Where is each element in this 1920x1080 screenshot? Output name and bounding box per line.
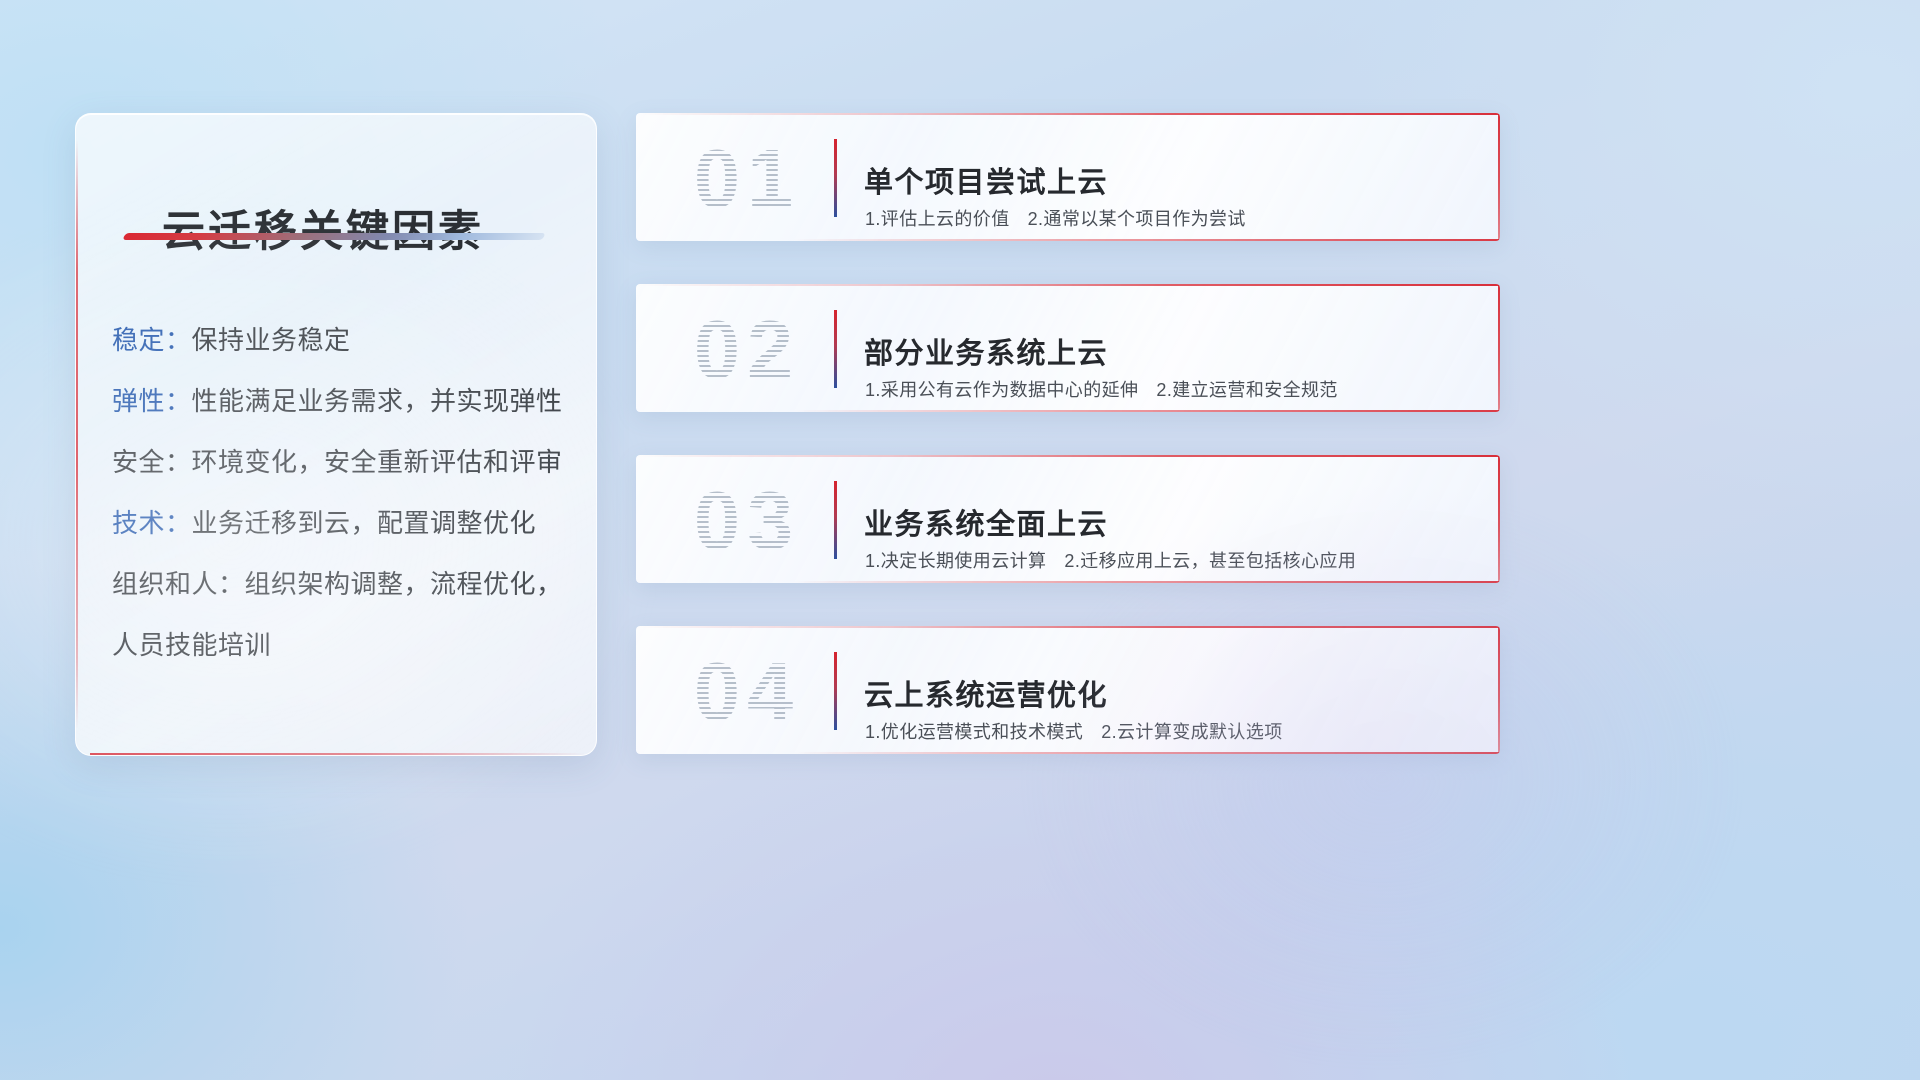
card-number-03: 03 <box>662 471 832 571</box>
card-subtitle-01: 1.评估上云的价值2.通常以某个项目作为尝试 <box>865 205 1246 231</box>
panel-left-accent-line <box>76 140 78 729</box>
card-subtitle-03-item-2: 2.迁移应用上云，甚至包括核心应用 <box>1064 551 1356 571</box>
fact-key-organization: 组织和人： <box>112 569 245 599</box>
card-divider-bar <box>834 481 837 559</box>
fact-line-organization-cont: 人员技能培训 <box>112 615 578 676</box>
card-right-accent-line <box>1498 113 1500 241</box>
card-subtitle-03: 1.决定长期使用云计算2.迁移应用上云，甚至包括核心应用 <box>865 547 1356 573</box>
card-number-01: 01 <box>662 129 832 229</box>
fact-line-stability: 稳定：保持业务稳定 <box>112 310 578 371</box>
card-bottom-accent-line <box>792 581 1500 583</box>
card-subtitle-02-item-2: 2.建立运营和安全规范 <box>1156 380 1337 400</box>
fact-value-organization-cont: 人员技能培训 <box>112 630 271 660</box>
key-factors-panel: 云迁移关键因素 稳定：保持业务稳定 弹性：性能满足业务需求，并实现弹性 安全：环… <box>75 113 597 756</box>
card-top-accent-line <box>636 284 1500 286</box>
fact-key-stability: 稳定： <box>112 325 192 355</box>
card-subtitle-01-item-2: 2.通常以某个项目作为尝试 <box>1028 209 1246 229</box>
stage-card-02[interactable]: 02 部分业务系统上云 1.采用公有云作为数据中心的延伸2.建立运营和安全规范 <box>636 284 1500 412</box>
card-bottom-accent-line <box>792 410 1500 412</box>
card-divider-bar <box>834 310 837 388</box>
fact-value-technology: 业务迁移到云，配置调整优化 <box>192 508 537 538</box>
card-bottom-accent-line <box>792 752 1500 754</box>
card-divider-bar <box>834 652 837 730</box>
card-title-01: 单个项目尝试上云 <box>864 159 1108 201</box>
card-number-04: 04 <box>662 642 832 742</box>
card-top-accent-line <box>636 626 1500 628</box>
fact-key-technology: 技术： <box>112 508 192 538</box>
fact-value-elasticity: 性能满足业务需求，并实现弹性 <box>192 386 563 416</box>
key-factors-list: 稳定：保持业务稳定 弹性：性能满足业务需求，并实现弹性 安全：环境变化，安全重新… <box>112 310 578 676</box>
card-divider-bar <box>834 139 837 217</box>
fact-key-security: 安全： <box>112 447 192 477</box>
card-title-02: 部分业务系统上云 <box>864 330 1108 372</box>
card-subtitle-02-item-1: 1.采用公有云作为数据中心的延伸 <box>865 380 1138 400</box>
stage-cards-list: 01 单个项目尝试上云 1.评估上云的价值2.通常以某个项目作为尝试 02 部分… <box>636 113 1500 797</box>
panel-bottom-accent-line <box>90 753 586 755</box>
card-subtitle-04: 1.优化运营模式和技术模式2.云计算变成默认选项 <box>865 718 1283 744</box>
fact-value-stability: 保持业务稳定 <box>192 325 351 355</box>
fact-line-security: 安全：环境变化，安全重新评估和评审 <box>112 432 578 493</box>
stage-card-04[interactable]: 04 云上系统运营优化 1.优化运营模式和技术模式2.云计算变成默认选项 <box>636 626 1500 754</box>
card-subtitle-02: 1.采用公有云作为数据中心的延伸2.建立运营和安全规范 <box>865 376 1338 402</box>
card-right-accent-line <box>1498 626 1500 754</box>
title-underline-gradient <box>122 233 545 240</box>
card-number-02: 02 <box>662 300 832 400</box>
page-title: 云迁移关键因素 <box>162 197 484 259</box>
card-subtitle-01-item-1: 1.评估上云的价值 <box>865 209 1010 229</box>
fact-value-organization: 组织架构调整，流程优化， <box>245 569 563 599</box>
fact-key-elasticity: 弹性： <box>112 386 192 416</box>
card-title-04: 云上系统运营优化 <box>864 672 1108 714</box>
card-bottom-accent-line <box>792 239 1500 241</box>
slide-canvas: 云迁移关键因素 稳定：保持业务稳定 弹性：性能满足业务需求，并实现弹性 安全：环… <box>0 0 1920 1080</box>
fact-line-technology: 技术：业务迁移到云，配置调整优化 <box>112 493 578 554</box>
card-subtitle-03-item-1: 1.决定长期使用云计算 <box>865 551 1046 571</box>
stage-card-01[interactable]: 01 单个项目尝试上云 1.评估上云的价值2.通常以某个项目作为尝试 <box>636 113 1500 241</box>
fact-line-organization: 组织和人：组织架构调整，流程优化， <box>112 554 578 615</box>
card-top-accent-line <box>636 455 1500 457</box>
card-title-03: 业务系统全面上云 <box>864 501 1108 543</box>
card-right-accent-line <box>1498 284 1500 412</box>
stage-card-03[interactable]: 03 业务系统全面上云 1.决定长期使用云计算2.迁移应用上云，甚至包括核心应用 <box>636 455 1500 583</box>
card-right-accent-line <box>1498 455 1500 583</box>
card-top-accent-line <box>636 113 1500 115</box>
card-subtitle-04-item-2: 2.云计算变成默认选项 <box>1101 722 1282 742</box>
fact-line-elasticity: 弹性：性能满足业务需求，并实现弹性 <box>112 371 578 432</box>
card-subtitle-04-item-1: 1.优化运营模式和技术模式 <box>865 722 1083 742</box>
fact-value-security: 环境变化，安全重新评估和评审 <box>192 447 563 477</box>
